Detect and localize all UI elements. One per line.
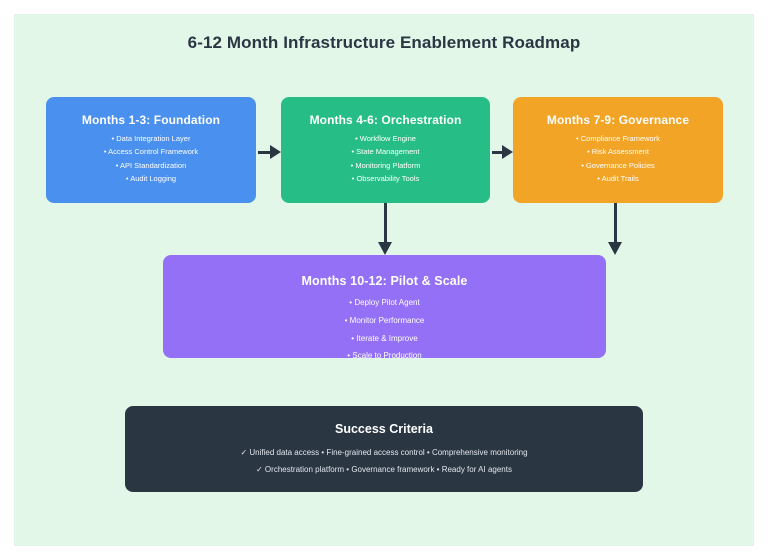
phase-title: Months 10-12: Pilot & Scale xyxy=(302,274,468,288)
phase-title: Months 7-9: Governance xyxy=(547,113,689,127)
list-item: ✓ Orchestration platform • Governance fr… xyxy=(256,465,512,474)
arrow-down-icon xyxy=(614,203,617,243)
phase-item-list: • Compliance Framework • Risk Assessment… xyxy=(576,135,660,183)
list-item: • Audit Logging xyxy=(126,175,176,183)
list-item: • Workflow Engine xyxy=(355,135,416,143)
list-item: • Observability Tools xyxy=(352,175,420,183)
arrow-right-icon xyxy=(258,151,271,154)
list-item: • Risk Assessment xyxy=(587,148,649,156)
list-item: • Iterate & Improve xyxy=(351,335,417,344)
arrow-down-icon xyxy=(384,203,387,243)
diagram-canvas: 6-12 Month Infrastructure Enablement Roa… xyxy=(14,14,754,546)
list-item: • Access Control Framework xyxy=(104,148,198,156)
list-item: • Data Integration Layer xyxy=(112,135,191,143)
list-item: • Scale to Production xyxy=(347,352,421,361)
list-item: • Compliance Framework xyxy=(576,135,660,143)
list-item: • Monitor Performance xyxy=(345,317,425,326)
list-item: • Governance Policies xyxy=(581,162,655,170)
phase-card-orchestration[interactable]: Months 4-6: Orchestration • Workflow Eng… xyxy=(281,97,490,203)
success-criteria-title: Success Criteria xyxy=(335,422,433,436)
list-item: • API Standardization xyxy=(116,162,187,170)
success-criteria-list: ✓ Unified data access • Fine-grained acc… xyxy=(240,448,527,474)
list-item: • Monitoring Platform xyxy=(351,162,421,170)
page-title: 6-12 Month Infrastructure Enablement Roa… xyxy=(14,33,754,53)
list-item: ✓ Unified data access • Fine-grained acc… xyxy=(240,448,527,457)
phase-title: Months 4-6: Orchestration xyxy=(310,113,462,127)
phase-card-governance[interactable]: Months 7-9: Governance • Compliance Fram… xyxy=(513,97,723,203)
arrow-right-icon xyxy=(492,151,503,154)
list-item: • Deploy Pilot Agent xyxy=(349,299,419,308)
phase-card-pilot-scale[interactable]: Months 10-12: Pilot & Scale • Deploy Pil… xyxy=(163,255,606,358)
list-item: • Audit Trails xyxy=(597,175,638,183)
phase-title: Months 1-3: Foundation xyxy=(82,113,220,127)
success-criteria-panel: Success Criteria ✓ Unified data access •… xyxy=(125,406,643,492)
phase-item-list: • Workflow Engine • State Management • M… xyxy=(351,135,421,183)
phase-item-list: • Deploy Pilot Agent • Monitor Performan… xyxy=(345,299,425,361)
phase-card-foundation[interactable]: Months 1-3: Foundation • Data Integratio… xyxy=(46,97,256,203)
phase-item-list: • Data Integration Layer • Access Contro… xyxy=(104,135,198,183)
list-item: • State Management xyxy=(351,148,419,156)
